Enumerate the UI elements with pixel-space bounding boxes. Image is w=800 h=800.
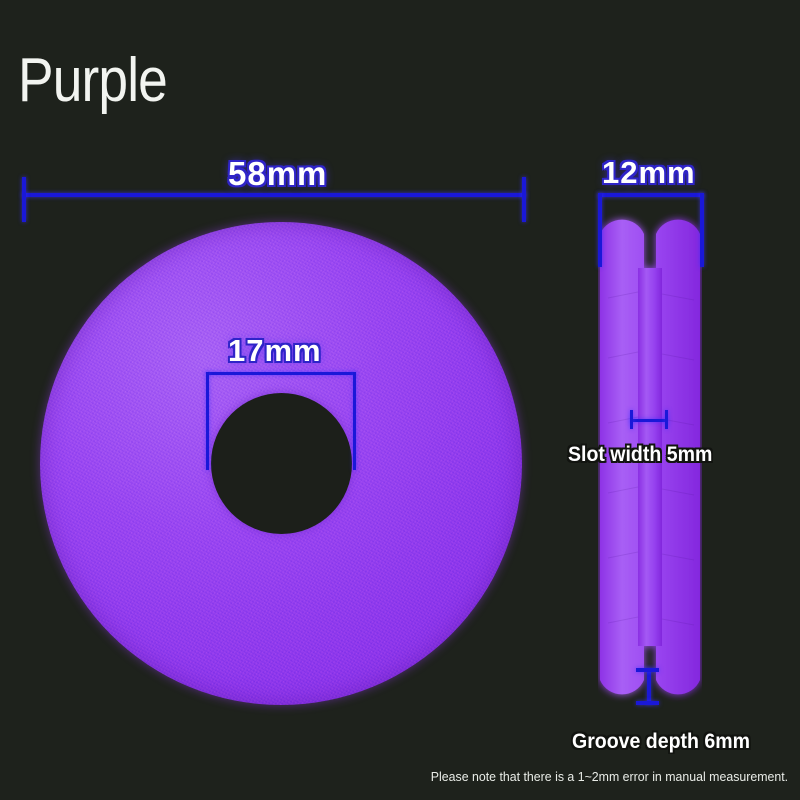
groove-depth-tick-bottom bbox=[636, 701, 659, 705]
slot-width-dimension-line bbox=[630, 419, 668, 422]
side-width-tick-right bbox=[700, 193, 704, 267]
slot-width-tick-left bbox=[630, 410, 633, 429]
outer-diameter-tick-left bbox=[22, 177, 26, 222]
disc-center-hole bbox=[211, 393, 352, 534]
inner-diameter-label: 17mm bbox=[228, 333, 322, 369]
inner-diameter-dimension-line bbox=[206, 372, 356, 375]
groove-depth-tick-top bbox=[636, 668, 659, 672]
outer-diameter-dimension-line bbox=[22, 193, 526, 197]
pulley-front-view bbox=[40, 222, 522, 705]
measurement-disclaimer: Please note that there is a 1~2mm error … bbox=[431, 769, 788, 784]
side-width-label: 12mm bbox=[602, 155, 696, 191]
inner-diameter-tick-left bbox=[206, 372, 209, 470]
product-spec-diagram: Purple 58mm 17mm bbox=[0, 0, 800, 800]
inner-diameter-tick-right bbox=[353, 372, 356, 470]
slot-width-tick-right bbox=[665, 410, 668, 429]
outer-diameter-tick-right bbox=[522, 177, 526, 222]
groove-depth-label: Groove depth 6mm bbox=[572, 730, 750, 754]
side-width-dimension-line bbox=[598, 193, 704, 197]
page-title: Purple bbox=[18, 50, 167, 112]
side-width-tick-left bbox=[598, 193, 602, 267]
groove-depth-dimension-line bbox=[647, 668, 651, 704]
outer-diameter-label: 58mm bbox=[228, 155, 327, 193]
slot-width-label: Slot width 5mm bbox=[568, 443, 712, 467]
